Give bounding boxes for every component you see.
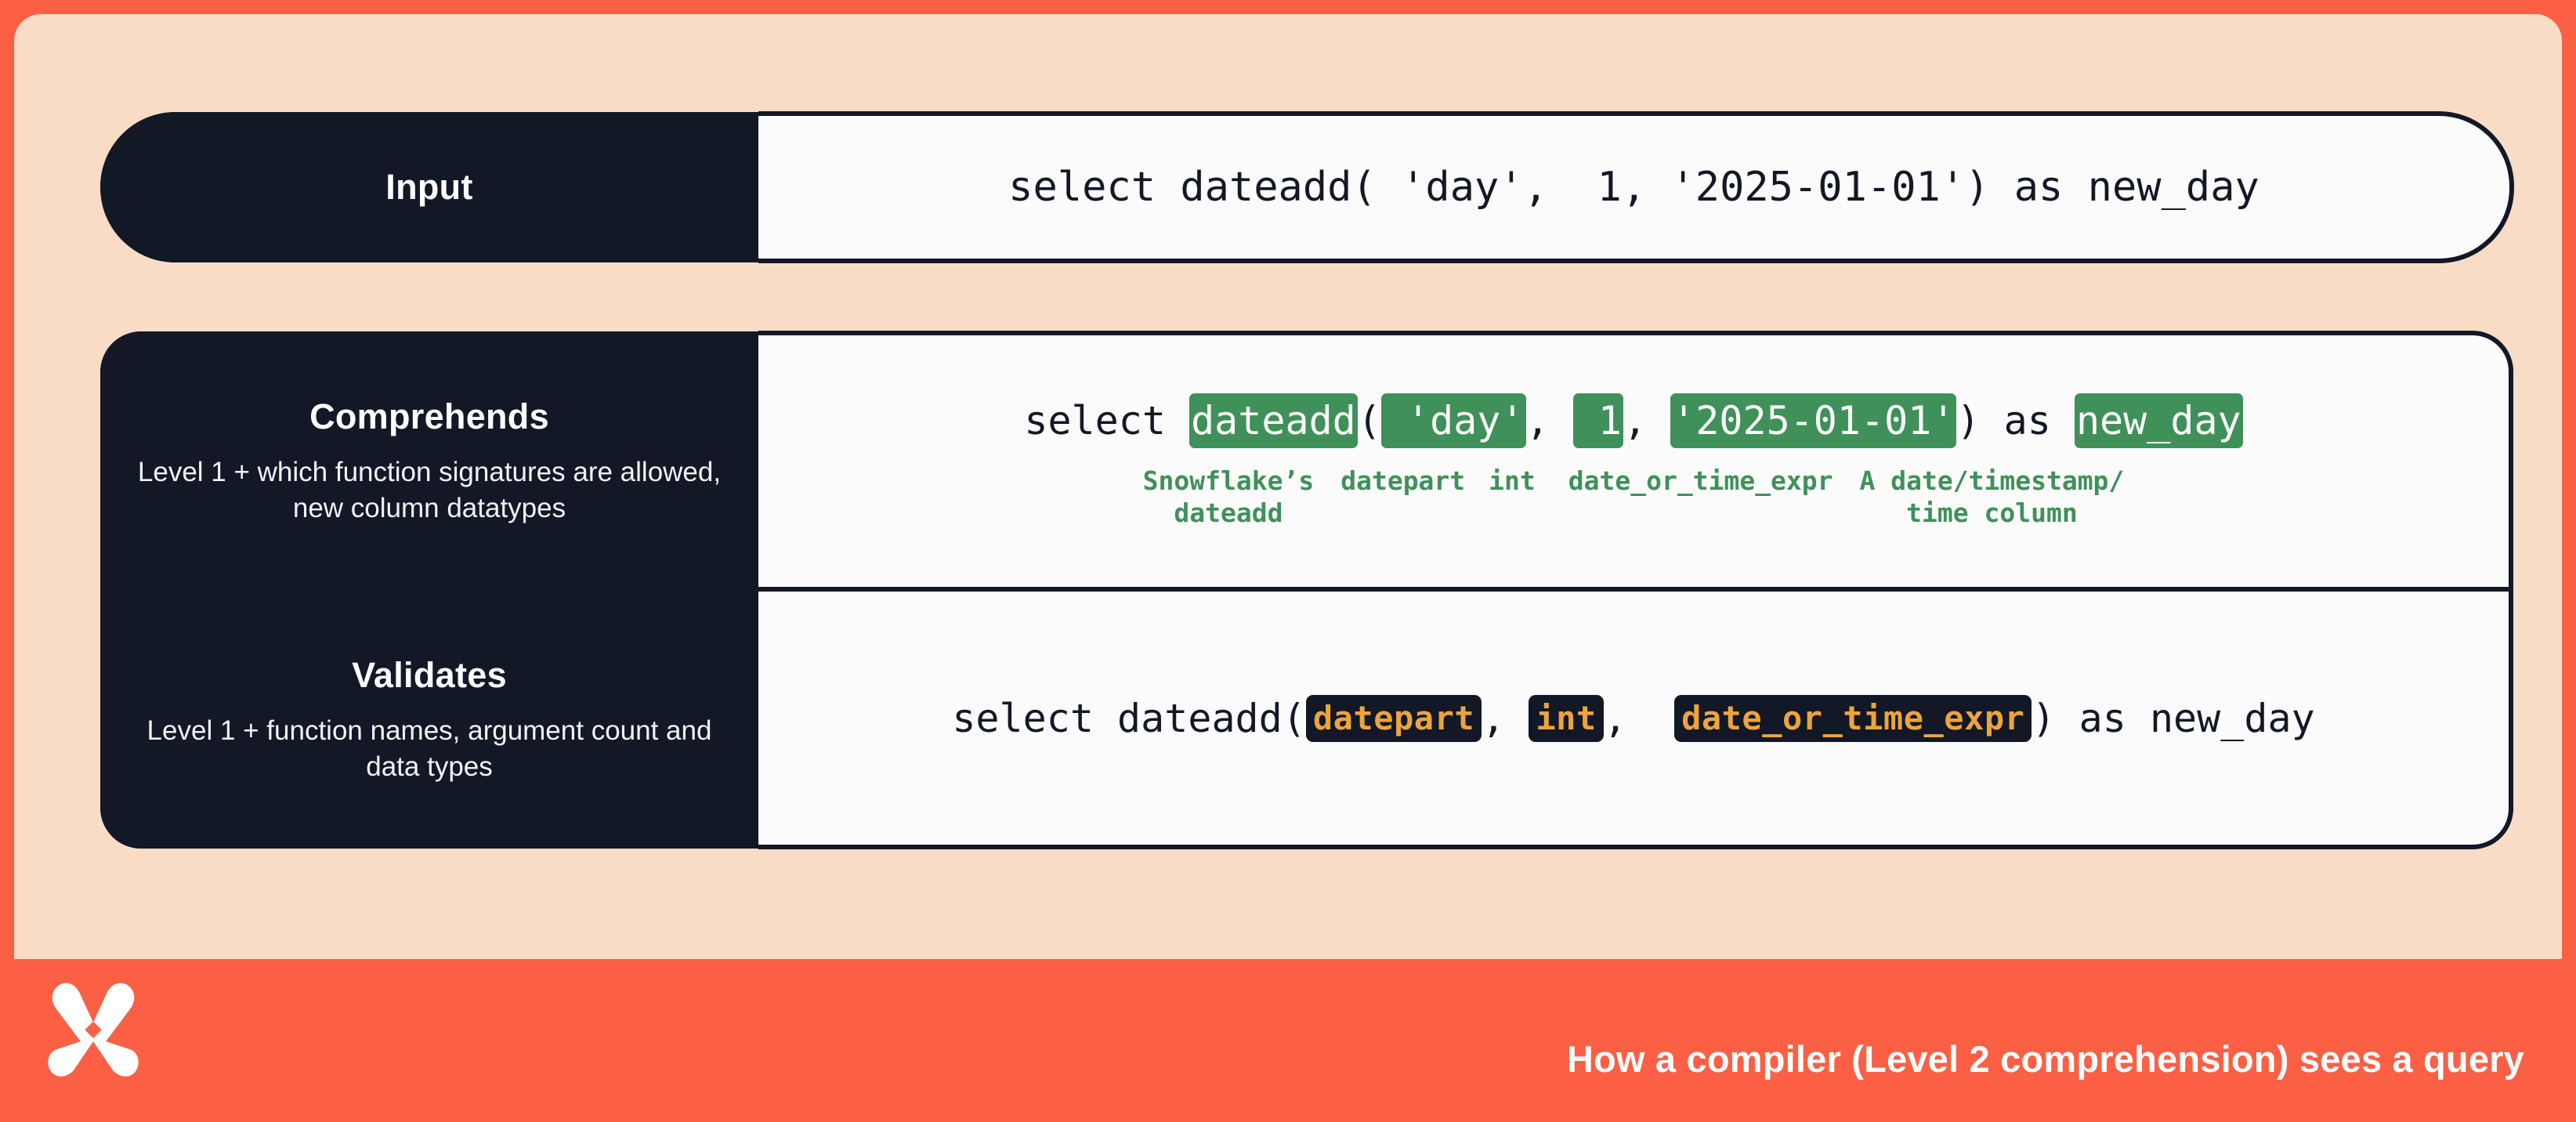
code-annotation: date_or_time_expr: [1568, 465, 1833, 498]
content-panel: Input select dateadd( 'day', 1, '2025-01…: [14, 14, 2562, 959]
footer-bar: How a compiler (Level 2 comprehension) s…: [0, 959, 2576, 1122]
validates-label-description: Level 1 + function names, argument count…: [127, 713, 732, 785]
code-annotation-line: int: [1489, 465, 1536, 498]
code-annotation-line: datepart: [1340, 465, 1465, 498]
validates-code-panel: select dateadd(datepart, int, date_or_ti…: [758, 592, 2513, 849]
validates-label-column: Validates Level 1 + function names, argu…: [100, 592, 758, 849]
input-card: Input select dateadd( 'day', 1, '2025-01…: [100, 112, 2513, 262]
code-token-highlighted: '2025-01-01': [1670, 393, 1956, 448]
code-token-highlighted: 'day': [1381, 393, 1526, 448]
code-annotation-line: A date/timestamp/: [1860, 465, 2125, 498]
code-token-placeholder: int: [1529, 695, 1603, 742]
code-token-placeholder: date_or_time_expr: [1674, 695, 2031, 742]
code-token: as: [2004, 398, 2075, 443]
code-token: ): [1956, 398, 2003, 443]
validates-row: Validates Level 1 + function names, argu…: [100, 592, 2513, 849]
comprehends-row: Comprehends Level 1 + which function sig…: [100, 331, 2513, 592]
code-token-highlighted: new_day: [2075, 393, 2243, 448]
comprehends-label-column: Comprehends Level 1 + which function sig…: [100, 331, 758, 592]
footer-caption: How a compiler (Level 2 comprehension) s…: [1567, 1037, 2524, 1080]
x-star-logo-icon: [41, 976, 146, 1081]
code-token-highlighted: dateadd: [1189, 393, 1358, 448]
code-token: ,: [1604, 696, 1674, 741]
input-code-panel: select dateadd( 'day', 1, '2025-01-01') …: [758, 111, 2514, 263]
comprehends-label-description: Level 1 + which function signatures are …: [127, 454, 732, 527]
code-annotation-line: date_or_time_expr: [1568, 465, 1833, 498]
code-annotation: datepart: [1340, 465, 1465, 498]
validates-label-title: Validates: [352, 655, 507, 696]
code-annotation: A date/timestamp/time column: [1860, 465, 2125, 530]
levels-card: Comprehends Level 1 + which function sig…: [100, 331, 2513, 849]
code-annotation-line: Snowflake’s: [1143, 465, 1315, 498]
code-annotation: Snowflake’sdateadd: [1143, 465, 1315, 530]
comprehends-code-text: select dateadd( 'day', 1, '2025-01-01') …: [1024, 393, 2242, 448]
code-token: ,: [1482, 696, 1529, 741]
input-code-text: select dateadd( 'day', 1, '2025-01-01') …: [1008, 164, 2259, 211]
input-label-title: Input: [385, 167, 472, 208]
poster-root: Input select dateadd( 'day', 1, '2025-01…: [0, 0, 2576, 1122]
code-token: ,: [1623, 398, 1670, 443]
code-token: ) as new_day: [2031, 696, 2314, 741]
comprehends-label-title: Comprehends: [309, 396, 549, 437]
code-token: ,: [1526, 398, 1573, 443]
input-label-column: Input: [100, 112, 758, 262]
code-annotation: int: [1489, 465, 1536, 498]
comprehends-annotation-row: Snowflake’sdateadddatepartintdate_or_tim…: [1143, 465, 2125, 530]
code-annotation-line: time column: [1860, 498, 2125, 530]
code-token-highlighted: 1: [1573, 393, 1623, 448]
code-token: select dateadd(: [952, 696, 1306, 741]
code-token-placeholder: datepart: [1306, 695, 1482, 742]
code-annotation-line: dateadd: [1143, 498, 1315, 530]
code-token: (: [1358, 398, 1381, 443]
code-token: select: [1024, 398, 1189, 443]
validates-code-text: select dateadd(datepart, int, date_or_ti…: [952, 695, 2314, 742]
comprehends-code-panel: select dateadd( 'day', 1, '2025-01-01') …: [758, 331, 2513, 592]
